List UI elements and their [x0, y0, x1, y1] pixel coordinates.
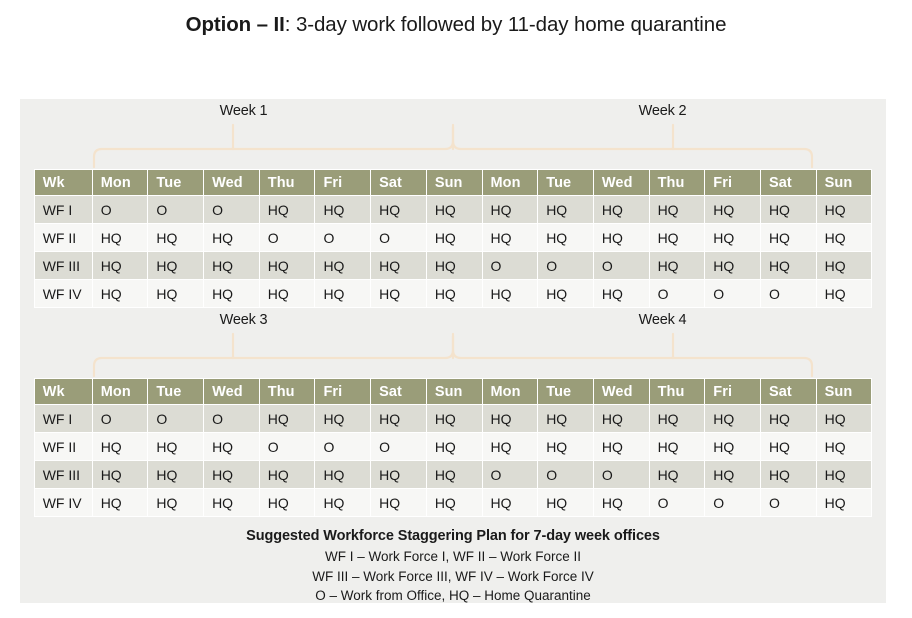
cell: HQ — [760, 196, 816, 224]
table-row: WF III HQ HQ HQ HQ HQ HQ HQ O O O HQ HQ … — [34, 461, 872, 489]
cell: HQ — [204, 433, 260, 461]
week-label-2: Week 2 — [453, 103, 872, 119]
cell: HQ — [538, 405, 594, 433]
column-header-wed-w4: Wed — [593, 379, 649, 405]
caption-line-3: WF III – Work Force III, WF IV – Work Fo… — [20, 567, 886, 587]
cell: HQ — [816, 489, 872, 517]
week-label-1: Week 1 — [34, 103, 453, 119]
cell: O — [92, 405, 148, 433]
cell: HQ — [315, 489, 371, 517]
column-header-tue-w1: Tue — [148, 170, 204, 196]
cell: HQ — [315, 196, 371, 224]
cell: HQ — [371, 461, 427, 489]
cell: HQ — [593, 224, 649, 252]
column-header-mon-w4: Mon — [482, 379, 538, 405]
column-header-sat-w1: Sat — [371, 170, 427, 196]
column-header-sat-w3: Sat — [371, 379, 427, 405]
cell: HQ — [92, 433, 148, 461]
column-header-mon-w2: Mon — [482, 170, 538, 196]
cell: HQ — [92, 280, 148, 308]
cell: HQ — [315, 461, 371, 489]
column-header-sat-w2: Sat — [760, 170, 816, 196]
cell: O — [92, 196, 148, 224]
caption-line-4: O – Work from Office, HQ – Home Quaranti… — [20, 586, 886, 606]
cell: HQ — [426, 489, 482, 517]
cell: HQ — [760, 461, 816, 489]
column-header-mon-w1: Mon — [92, 170, 148, 196]
cell: O — [705, 489, 761, 517]
table-row: WF I O O O HQ HQ HQ HQ HQ HQ HQ HQ HQ HQ… — [34, 196, 872, 224]
column-header-fri-w1: Fri — [315, 170, 371, 196]
row-label: WF III — [34, 461, 92, 489]
cell: O — [760, 489, 816, 517]
column-header-wed-w2: Wed — [593, 170, 649, 196]
cell: HQ — [816, 433, 872, 461]
cell: HQ — [649, 196, 705, 224]
cell: HQ — [426, 252, 482, 280]
week-brace-block-1: Week 1 Week 2 — [34, 99, 872, 169]
column-header-wed-w3: Wed — [204, 379, 260, 405]
cell: O — [649, 280, 705, 308]
column-header-tue-w3: Tue — [148, 379, 204, 405]
table-row: WF I O O O HQ HQ HQ HQ HQ HQ HQ HQ HQ HQ… — [34, 405, 872, 433]
cell: HQ — [482, 405, 538, 433]
cell: HQ — [482, 224, 538, 252]
cell: HQ — [259, 489, 315, 517]
column-header-thu-w4: Thu — [649, 379, 705, 405]
column-header-thu-w3: Thu — [259, 379, 315, 405]
cell: HQ — [204, 461, 260, 489]
cell: HQ — [482, 196, 538, 224]
column-header-fri-w3: Fri — [315, 379, 371, 405]
table-row: WF II HQ HQ HQ O O O HQ HQ HQ HQ HQ HQ H… — [34, 433, 872, 461]
week-label-row-1: Week 1 Week 2 — [34, 103, 872, 119]
cell: O — [593, 461, 649, 489]
cell: HQ — [760, 224, 816, 252]
cell: HQ — [482, 433, 538, 461]
cell: HQ — [371, 252, 427, 280]
cell: HQ — [482, 280, 538, 308]
row-label: WF IV — [34, 489, 92, 517]
cell: HQ — [705, 196, 761, 224]
cell: HQ — [649, 405, 705, 433]
cell: HQ — [259, 252, 315, 280]
page-title-bold: Option – II — [186, 13, 285, 36]
table-header-row: Wk Mon Tue Wed Thu Fri Sat Sun Mon Tue W… — [34, 379, 872, 405]
table-row: WF IV HQ HQ HQ HQ HQ HQ HQ HQ HQ HQ O O … — [34, 489, 872, 517]
column-header-wk: Wk — [34, 170, 92, 196]
cell: HQ — [426, 196, 482, 224]
legend-caption: Suggested Workforce Staggering Plan for … — [20, 517, 886, 606]
cell: O — [259, 433, 315, 461]
cell: HQ — [426, 280, 482, 308]
week-label-3: Week 3 — [34, 312, 453, 328]
cell: HQ — [315, 405, 371, 433]
cell: O — [593, 252, 649, 280]
column-header-tue-w4: Tue — [538, 379, 594, 405]
cell: HQ — [816, 405, 872, 433]
cell: O — [538, 252, 594, 280]
cell: HQ — [649, 433, 705, 461]
cell: HQ — [482, 489, 538, 517]
cell: O — [259, 224, 315, 252]
cell: O — [148, 405, 204, 433]
cell: HQ — [816, 252, 872, 280]
cell: HQ — [426, 405, 482, 433]
cell: HQ — [259, 461, 315, 489]
column-header-sun-w2: Sun — [816, 170, 872, 196]
cell: HQ — [705, 405, 761, 433]
week-label-4: Week 4 — [453, 312, 872, 328]
table-row: WF II HQ HQ HQ O O O HQ HQ HQ HQ HQ HQ H… — [34, 224, 872, 252]
row-label: WF II — [34, 433, 92, 461]
cell: HQ — [649, 224, 705, 252]
cell: HQ — [148, 461, 204, 489]
cell: HQ — [593, 489, 649, 517]
week-label-row-2: Week 3 Week 4 — [34, 312, 872, 328]
cell: HQ — [371, 280, 427, 308]
cell: HQ — [148, 252, 204, 280]
cell: HQ — [593, 433, 649, 461]
row-label: WF I — [34, 196, 92, 224]
cell: O — [538, 461, 594, 489]
cell: HQ — [315, 252, 371, 280]
cell: O — [204, 196, 260, 224]
cell: HQ — [760, 433, 816, 461]
cell: HQ — [148, 433, 204, 461]
column-header-thu-w1: Thu — [259, 170, 315, 196]
column-header-fri-w4: Fri — [705, 379, 761, 405]
column-header-sat-w4: Sat — [760, 379, 816, 405]
cell: HQ — [593, 405, 649, 433]
caption-title: Suggested Workforce Staggering Plan for … — [20, 526, 886, 547]
cell: HQ — [816, 461, 872, 489]
column-header-mon-w3: Mon — [92, 379, 148, 405]
cell: HQ — [371, 489, 427, 517]
cell: HQ — [760, 405, 816, 433]
cell: HQ — [705, 461, 761, 489]
cell: HQ — [593, 280, 649, 308]
cell: HQ — [371, 405, 427, 433]
cell: O — [315, 433, 371, 461]
cell: HQ — [538, 196, 594, 224]
table-row: WF III HQ HQ HQ HQ HQ HQ HQ O O O HQ HQ … — [34, 252, 872, 280]
cell: HQ — [538, 433, 594, 461]
cell: HQ — [92, 224, 148, 252]
cell: O — [482, 252, 538, 280]
cell: HQ — [148, 489, 204, 517]
cell: HQ — [538, 489, 594, 517]
row-label: WF I — [34, 405, 92, 433]
caption-line-2: WF I – Work Force I, WF II – Work Force … — [20, 547, 886, 567]
cell: HQ — [92, 489, 148, 517]
cell: HQ — [148, 280, 204, 308]
row-label: WF III — [34, 252, 92, 280]
schedule-table-2: Wk Mon Tue Wed Thu Fri Sat Sun Mon Tue W… — [34, 378, 873, 517]
cell: HQ — [705, 433, 761, 461]
cell: HQ — [760, 252, 816, 280]
cell: HQ — [204, 280, 260, 308]
cell: HQ — [593, 196, 649, 224]
page-title: Option – II: 3-day work followed by 11-d… — [0, 0, 912, 38]
week-brace-block-2: Week 3 Week 4 — [34, 308, 872, 378]
cell: O — [204, 405, 260, 433]
cell: HQ — [649, 461, 705, 489]
cell: HQ — [538, 224, 594, 252]
cell: HQ — [259, 196, 315, 224]
cell: HQ — [204, 489, 260, 517]
cell: O — [705, 280, 761, 308]
cell: O — [649, 489, 705, 517]
row-label: WF II — [34, 224, 92, 252]
row-label: WF IV — [34, 280, 92, 308]
cell: HQ — [315, 280, 371, 308]
cell: HQ — [816, 280, 872, 308]
cell: HQ — [92, 252, 148, 280]
table-header-row: Wk Mon Tue Wed Thu Fri Sat Sun Mon Tue W… — [34, 170, 872, 196]
cell: HQ — [426, 433, 482, 461]
cell: HQ — [148, 224, 204, 252]
cell: HQ — [816, 196, 872, 224]
schedule-table-1: Wk Mon Tue Wed Thu Fri Sat Sun Mon Tue W… — [34, 169, 873, 308]
cell: O — [760, 280, 816, 308]
column-header-wk: Wk — [34, 379, 92, 405]
cell: HQ — [426, 224, 482, 252]
cell: HQ — [705, 252, 761, 280]
schedule-panel: Week 1 Week 2 Wk Mon Tue Wed Thu Fri S — [20, 99, 886, 603]
cell: HQ — [259, 280, 315, 308]
cell: HQ — [371, 196, 427, 224]
cell: O — [371, 433, 427, 461]
cell: HQ — [204, 252, 260, 280]
column-header-sun-w1: Sun — [426, 170, 482, 196]
cell: O — [371, 224, 427, 252]
column-header-tue-w2: Tue — [538, 170, 594, 196]
column-header-wed-w1: Wed — [204, 170, 260, 196]
column-header-sun-w3: Sun — [426, 379, 482, 405]
cell: O — [482, 461, 538, 489]
cell: HQ — [92, 461, 148, 489]
cell: O — [315, 224, 371, 252]
week-brace-icon-2 — [34, 332, 872, 378]
page-title-rest: : 3-day work followed by 11-day home qua… — [285, 13, 727, 36]
table-row: WF IV HQ HQ HQ HQ HQ HQ HQ HQ HQ HQ O O … — [34, 280, 872, 308]
cell: HQ — [649, 252, 705, 280]
cell: O — [148, 196, 204, 224]
column-header-sun-w4: Sun — [816, 379, 872, 405]
cell: HQ — [426, 461, 482, 489]
column-header-thu-w2: Thu — [649, 170, 705, 196]
cell: HQ — [816, 224, 872, 252]
cell: HQ — [259, 405, 315, 433]
cell: HQ — [538, 280, 594, 308]
week-brace-icon-1 — [34, 123, 872, 169]
column-header-fri-w2: Fri — [705, 170, 761, 196]
cell: HQ — [204, 224, 260, 252]
cell: HQ — [705, 224, 761, 252]
